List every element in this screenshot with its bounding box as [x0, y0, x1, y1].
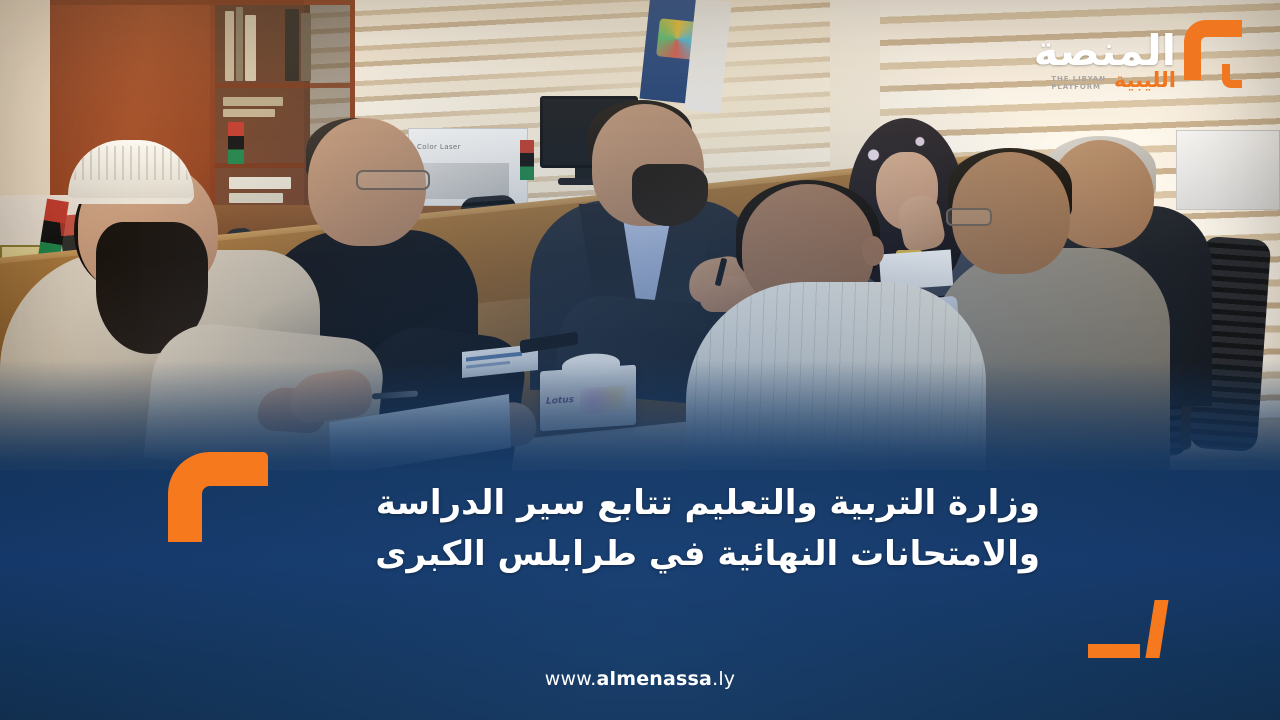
logo-arabic-subtitle: الليبية — [1114, 70, 1176, 91]
url-suffix: .ly — [712, 668, 735, 690]
news-card: Color Laser — [0, 0, 1280, 720]
logo-english-tagline: THE LIBYAN PLATFORM — [1051, 75, 1106, 91]
logo-arabic-title: المنصة — [1034, 30, 1176, 72]
logo-english-line2: PLATFORM — [1051, 83, 1106, 91]
logo-wordmark: المنصة THE LIBYAN PLATFORM الليبية — [1034, 18, 1176, 91]
logo-english-line1: THE LIBYAN — [1051, 75, 1106, 83]
url-name: almenassa — [596, 668, 712, 690]
url-prefix: www. — [545, 668, 597, 690]
orange-corner-accent-icon — [1088, 600, 1178, 666]
website-url[interactable]: www.almenassa.ly — [0, 668, 1280, 690]
logo-bracket-icon — [1178, 18, 1246, 96]
logo-subtitle-row: THE LIBYAN PLATFORM الليبية — [1051, 70, 1176, 91]
headline-text: وزارة التربية والتعليم تتابع سير الدراسة… — [240, 478, 1040, 580]
almenassa-logo[interactable]: المنصة THE LIBYAN PLATFORM الليبية — [1034, 18, 1246, 102]
